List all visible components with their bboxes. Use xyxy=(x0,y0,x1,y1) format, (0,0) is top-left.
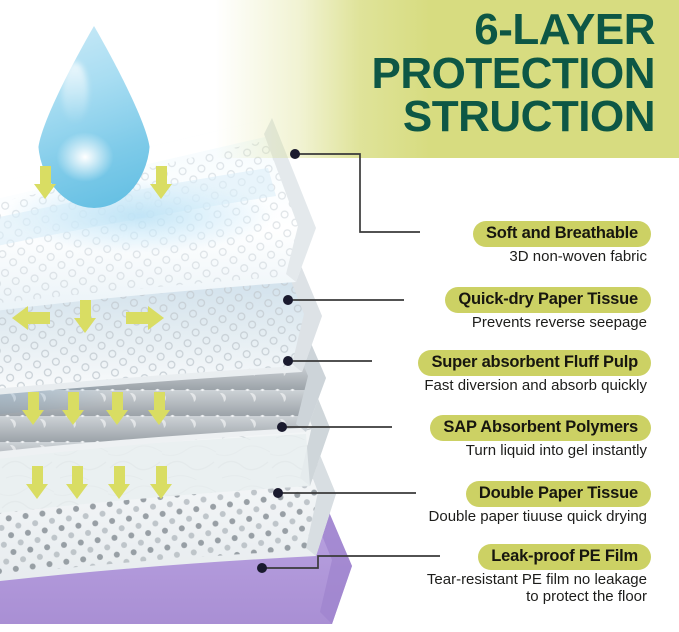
absorb-arrow-down xyxy=(150,466,173,500)
label-quick-dry-paper-tissue[interactable]: Quick-dry Paper Tissue Prevents reverse … xyxy=(321,287,651,332)
label-subtitle: 3D non-woven fabric xyxy=(321,249,651,266)
title-line-2: PROTECTION xyxy=(225,52,655,96)
label-title: SAP Absorbent Polymers xyxy=(430,415,651,441)
absorb-arrow-down xyxy=(150,166,173,200)
label-title: Quick-dry Paper Tissue xyxy=(445,287,651,313)
absorb-arrow-down xyxy=(62,392,85,426)
label-title: Soft and Breathable xyxy=(473,221,651,247)
absorb-arrow-down xyxy=(108,466,131,500)
label-subtitle: Turn liquid into gel instantly xyxy=(321,443,651,460)
absorb-arrow-down xyxy=(148,392,171,426)
absorb-arrow-down xyxy=(22,392,45,426)
label-super-absorbent-fluff-pulp[interactable]: Super absorbent Fluff Pulp Fast diversio… xyxy=(321,350,651,395)
label-subtitle: Double paper tiuuse quick drying xyxy=(321,509,651,526)
label-subtitle: Prevents reverse seepage xyxy=(321,315,651,332)
absorb-arrow-down xyxy=(66,466,89,500)
label-title: Super absorbent Fluff Pulp xyxy=(418,350,651,376)
diversion-arrow-right xyxy=(126,306,164,330)
absorb-arrow-down xyxy=(106,392,129,426)
title-line-3: STRUCTION xyxy=(225,95,655,139)
label-title: Leak-proof PE Film xyxy=(478,544,651,570)
label-double-paper-tissue[interactable]: Double Paper Tissue Double paper tiuuse … xyxy=(321,481,651,526)
label-sap-absorbent-polymers[interactable]: SAP Absorbent Polymers Turn liquid into … xyxy=(321,415,651,460)
label-title: Double Paper Tissue xyxy=(466,481,651,507)
diversion-arrow-down xyxy=(74,300,97,336)
absorb-arrow-down xyxy=(34,166,57,200)
absorb-arrow-down xyxy=(26,466,49,500)
label-subtitle: Tear-resistant PE film no leakage to pro… xyxy=(321,572,651,606)
infographic-poster: 6-LAYER PROTECTION STRUCTION Soft and Br… xyxy=(0,0,679,632)
label-soft-and-breathable[interactable]: Soft and Breathable 3D non-woven fabric xyxy=(321,221,651,266)
diversion-arrow-left xyxy=(12,306,50,330)
label-leak-proof-pe-film[interactable]: Leak-proof PE Film Tear-resistant PE fil… xyxy=(321,544,651,606)
title-line-1: 6-LAYER xyxy=(225,8,655,52)
label-subtitle: Fast diversion and absorb quickly xyxy=(321,378,651,395)
page-title: 6-LAYER PROTECTION STRUCTION xyxy=(225,8,655,139)
